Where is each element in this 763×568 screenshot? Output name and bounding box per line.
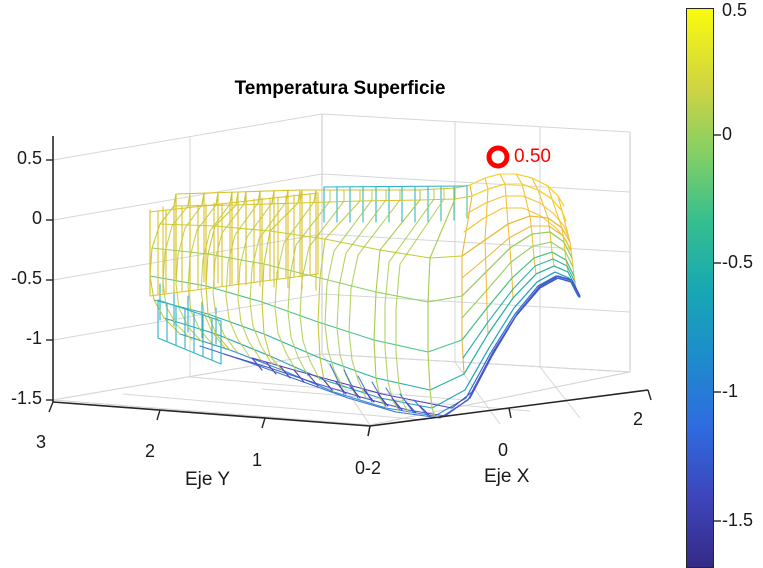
colorbar-tick-label-2: -0.5 (722, 252, 753, 273)
y-axis-title: Eje Y (185, 469, 230, 491)
colorbar-gradient (687, 9, 713, 567)
x-tick-label-0: 0 (498, 440, 508, 461)
z-axis-ticks (46, 160, 53, 400)
page-title: Temperatura Superficie (0, 78, 680, 100)
datatip-marker[interactable] (489, 148, 507, 166)
colorbar-tick-label-1: 0 (722, 124, 732, 145)
datatip-value-label: 0.50 (514, 146, 551, 168)
y-tick-label-3: 3 (36, 432, 46, 453)
colorbar-tick-label-4: -1.5 (722, 510, 753, 531)
y-tick-label-2: 2 (145, 441, 155, 462)
z-tick-label-4: -1.5 (0, 388, 42, 409)
colorbar-ticks (714, 0, 726, 546)
colorbar-tick-label-0: 0.5 (722, 0, 747, 21)
y-tick-label-0-and-x-tick-label-neg2: 0-2 (355, 458, 381, 479)
x-axis-title: Eje X (484, 466, 529, 488)
figure-canvas: Temperatura Superficie 0.5 0 -0.5 -1 -1.… (0, 0, 763, 546)
z-tick-label-2: -0.5 (0, 268, 42, 289)
y-tick-label-1: 1 (252, 450, 262, 471)
z-tick-label-1: 0 (0, 208, 42, 229)
colorbar-tick-label-3: -1 (722, 381, 738, 402)
z-tick-label-3: -1 (0, 328, 42, 349)
colorbar[interactable] (686, 8, 714, 568)
y-axis-ticks (49, 402, 370, 436)
surface-mesh[interactable] (150, 174, 580, 418)
z-tick-label-0: 0.5 (0, 148, 42, 169)
x-tick-label-2: 2 (633, 409, 643, 430)
